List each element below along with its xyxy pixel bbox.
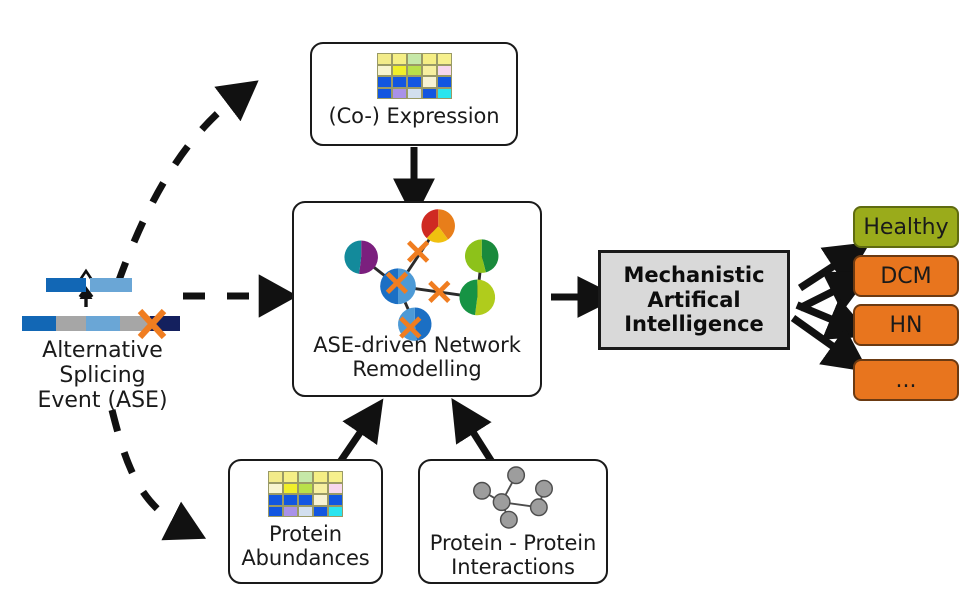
card-co-expression[interactable]: (Co-) Expression: [310, 42, 518, 146]
ase-top-exon-2: [90, 278, 132, 292]
ase-orange-cross-icon: [132, 306, 172, 342]
card-label-abundances: Protein Abundances: [241, 523, 369, 570]
outcome-chip-healthy[interactable]: Healthy: [853, 206, 959, 248]
heatmap-cell: [422, 65, 437, 77]
heatmap-icon-expression: [377, 53, 452, 99]
pie-node-green-dark: [465, 239, 498, 272]
heatmap-cell: [328, 471, 343, 483]
outcome-label-dcm: DCM: [880, 264, 931, 289]
heatmap-cell: [328, 494, 343, 506]
arrow-ai-to-healthy: [800, 258, 846, 288]
ppi-node: [474, 483, 491, 500]
heatmap-cell: [268, 483, 283, 495]
heatmap-cell: [422, 76, 437, 88]
heatmap-cell: [407, 88, 422, 100]
diagram-canvas: Alternative Splicing Event (ASE) (Co-) E…: [0, 0, 974, 600]
dashed-arrow-ase-to-abundances: [112, 410, 183, 527]
heatmap-cell: [313, 494, 328, 506]
heatmap-cell: [437, 88, 452, 100]
heatmap-cell: [422, 53, 437, 65]
ppi-node: [531, 499, 548, 516]
outcome-label-healthy: Healthy: [863, 215, 948, 240]
card-ppi[interactable]: Protein - Protein Interactions: [418, 459, 608, 584]
heatmap-cell: [283, 471, 298, 483]
arrow-abundances-to-network: [340, 421, 368, 462]
heatmap-cell: [313, 506, 328, 518]
heatmap-cell: [392, 65, 407, 77]
heatmap-cell: [298, 471, 313, 483]
pie-node-purple-teal: [344, 240, 377, 273]
mechanistic-ai-box[interactable]: Mechanistic Artifical Intelligence: [598, 250, 790, 350]
heatmap-cell: [377, 76, 392, 88]
grey-node-network-icon: [458, 467, 568, 529]
heatmap-cell: [283, 483, 298, 495]
heatmap-cell: [298, 483, 313, 495]
outcome-chip-dcm[interactable]: DCM: [853, 255, 959, 297]
heatmap-cell: [437, 65, 452, 77]
ase-top-exon-1: [46, 278, 86, 292]
heatmap-cell: [268, 471, 283, 483]
heatmap-cell: [377, 53, 392, 65]
dashed-arrow-ase-to-expression: [118, 96, 238, 283]
heatmap-cell: [422, 88, 437, 100]
card-ase-network[interactable]: ASE-driven Network Remodelling: [292, 201, 542, 397]
ase-caption: Alternative Splicing Event (ASE): [0, 338, 205, 413]
outcome-chip-other[interactable]: ...: [853, 359, 959, 401]
heatmap-cell: [328, 483, 343, 495]
ppi-node: [493, 494, 510, 511]
heatmap-cell: [392, 76, 407, 88]
heatmap-cell: [283, 494, 298, 506]
outcome-label-other: ...: [896, 368, 917, 393]
heatmap-cell: [313, 483, 328, 495]
heatmap-cell: [407, 76, 422, 88]
ppi-node: [501, 511, 518, 528]
heatmap-cell: [298, 494, 313, 506]
heatmap-cell: [437, 53, 452, 65]
heatmap-cell: [283, 506, 298, 518]
heatmap-cell: [392, 53, 407, 65]
arrow-ai-to-dcm: [800, 285, 846, 308]
pie-node-orange-red: [421, 209, 454, 242]
heatmap-cell: [377, 65, 392, 77]
ase-exon-2: [86, 316, 120, 331]
heatmap-icon-abundances: [268, 471, 343, 517]
heatmap-cell: [268, 506, 283, 518]
heatmap-cell: [407, 53, 422, 65]
heatmap-cell: [298, 506, 313, 518]
heatmap-cell: [377, 88, 392, 100]
outcome-label-hn: HN: [890, 313, 923, 338]
ppi-node: [536, 480, 553, 497]
card-label-expression: (Co-) Expression: [329, 105, 500, 129]
heatmap-cell: [268, 494, 283, 506]
arrow-ppi-to-network: [466, 421, 492, 462]
card-protein-abundances[interactable]: Protein Abundances: [228, 459, 383, 584]
heatmap-cell: [437, 76, 452, 88]
pie-node-network-icon: [298, 207, 536, 332]
heatmap-cell: [328, 506, 343, 518]
card-label-ppi: Protein - Protein Interactions: [430, 532, 596, 579]
pie-node-green-light: [459, 280, 495, 316]
card-label-network: ASE-driven Network Remodelling: [313, 334, 521, 381]
heatmap-cell: [392, 88, 407, 100]
ase-exon-1: [22, 316, 56, 331]
ppi-node: [508, 467, 525, 484]
heatmap-cell: [407, 65, 422, 77]
heatmap-cell: [313, 471, 328, 483]
outcome-chip-hn[interactable]: HN: [853, 304, 959, 346]
ase-intron-1: [56, 316, 86, 331]
